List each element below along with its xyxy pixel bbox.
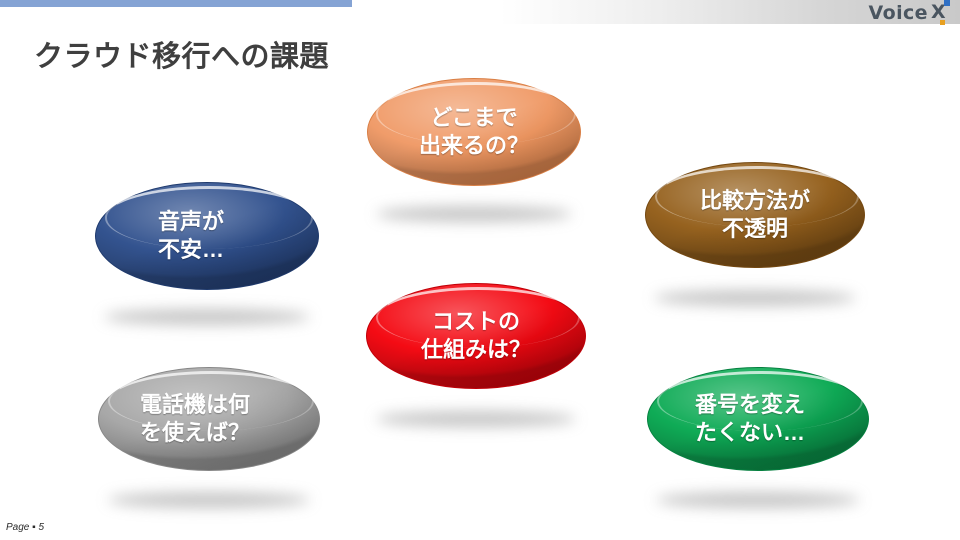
voicex-logo: Voice X xyxy=(869,1,946,25)
shape-shadow-gray xyxy=(108,492,310,508)
ellipse-label-red: コストの 仕組みは？ xyxy=(421,308,531,363)
ellipse-red[interactable]: コストの 仕組みは？ xyxy=(366,283,586,389)
logo-blue-square-icon xyxy=(944,0,950,6)
ellipse-brown[interactable]: 比較方法が 不透明 xyxy=(645,162,865,268)
ellipse-label-blue: 音声が 不安… xyxy=(158,208,224,263)
shape-shadow-orange xyxy=(376,206,572,222)
logo-orange-square-icon xyxy=(940,20,945,25)
logo-x-mark: X xyxy=(931,3,946,23)
ellipse-label-gray: 電話機は何 を使えば？ xyxy=(140,391,250,446)
shape-shadow-green xyxy=(656,492,860,508)
ellipse-blue[interactable]: 音声が 不安… xyxy=(95,182,319,290)
page-footer: Page ▪ 5 xyxy=(6,522,44,533)
ellipse-label-orange: どこまで 出来るの？ xyxy=(419,104,529,159)
slide-canvas: Voice X クラウド移行への課題 どこまで 出来るの？音声が 不安…比較方法… xyxy=(0,0,960,540)
ellipse-gray[interactable]: 電話機は何 を使えば？ xyxy=(98,367,320,471)
shape-shadow-blue xyxy=(104,309,310,325)
shape-shadow-brown xyxy=(654,290,856,306)
shape-shadow-red xyxy=(376,411,576,427)
ellipse-label-green: 番号を変え たくない… xyxy=(695,391,805,446)
ellipse-green[interactable]: 番号を変え たくない… xyxy=(647,367,869,471)
ellipse-label-brown: 比較方法が 不透明 xyxy=(700,187,810,242)
ellipse-orange[interactable]: どこまで 出来るの？ xyxy=(367,78,581,186)
logo-word: Voice xyxy=(869,4,928,23)
page-title: クラウド移行への課題 xyxy=(34,33,329,75)
top-accent-bar xyxy=(0,0,352,7)
